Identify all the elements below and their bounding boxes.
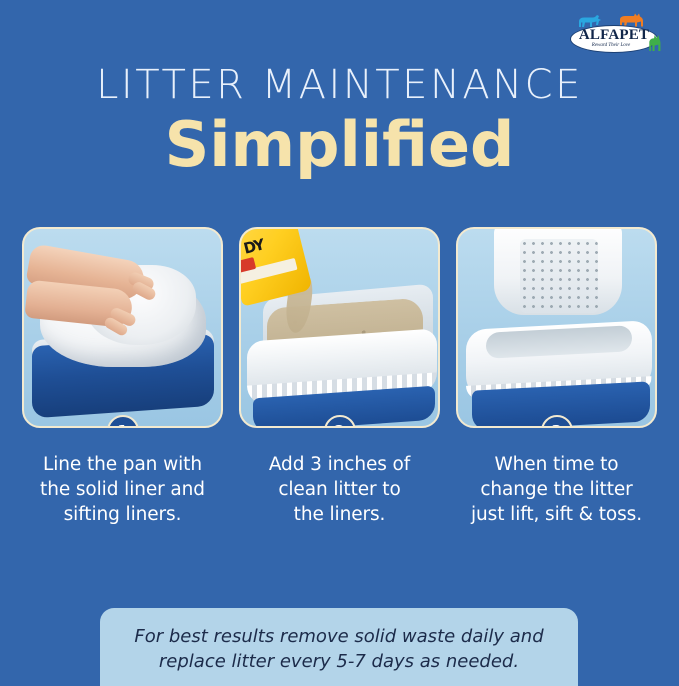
headline-line2: Simplified [0, 110, 679, 180]
step-1: 1 Line the pan with the solid liner and … [22, 227, 223, 527]
brand-logo: ALFAPET Reward Their Love [569, 12, 661, 56]
logo-tagline: Reward Their Love [569, 43, 653, 49]
step-badge-1: 1 [107, 415, 139, 428]
cat-green-silhouette-icon [645, 34, 661, 52]
step-2-photo: DY 2 [239, 227, 440, 428]
headline-line1: LITTER MAINTENANCE [0, 62, 679, 108]
step-3: 3 When time to change the litter just li… [456, 227, 657, 527]
step-3-caption: When time to change the litter just lift… [456, 452, 657, 527]
step-2-caption: Add 3 inches of clean litter to the line… [239, 452, 440, 527]
page-title: LITTER MAINTENANCE Simplified [0, 62, 679, 180]
step-1-caption: Line the pan with the solid liner and si… [22, 452, 223, 527]
footer-note-box: For best results remove solid waste dail… [100, 608, 578, 686]
sifting-liner-mesh [520, 239, 598, 313]
step-1-photo: 1 [22, 227, 223, 428]
step-2: DY 2 Add 3 inches of clean litter to the… [239, 227, 440, 527]
steps-row: 1 Line the pan with the solid liner and … [22, 227, 658, 527]
footer-note-text: For best results remove solid waste dail… [100, 624, 578, 674]
step-3-photo: 3 [456, 227, 657, 428]
